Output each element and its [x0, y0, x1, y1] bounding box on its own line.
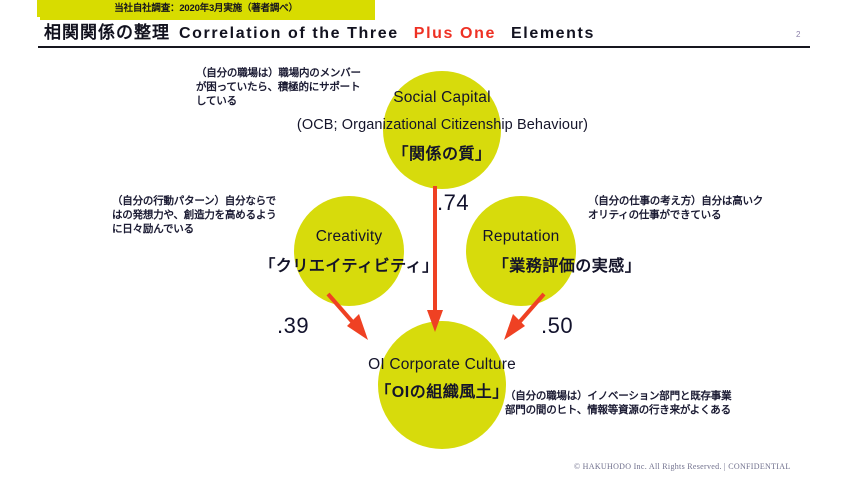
- page-title-jp: 相関関係の整理: [44, 23, 170, 42]
- annotation-creativity: （自分の行動パターン）自分ならではの発想力や、創造力を高めるように日々励んでいる: [112, 194, 284, 236]
- page-title-en-after: Elements: [505, 25, 595, 42]
- coefficient-creativity-to-oi: .39: [277, 313, 309, 339]
- node-label-social-capital-jp: 「関係の質」: [333, 140, 551, 164]
- page-title-en-before: Correlation of the Three: [179, 25, 405, 42]
- node-circle-reputation: [466, 196, 576, 306]
- node-label-oi-corporate-culture-en: OI Corporate Culture: [322, 356, 562, 374]
- coefficient-reputation-to-oi: .50: [541, 313, 573, 339]
- survey-note: 当社自社調査：2020年3月実施（著者調べ）: [37, 1, 375, 17]
- annotation-social-capital: （自分の職場は）職場内のメンバーが困っていたら、積極的にサポートしている: [196, 66, 368, 108]
- page-title: 相関関係の整理Correlation of the Three Plus One…: [44, 22, 595, 44]
- arrow-creativity-to-oi-icon: [322, 294, 382, 346]
- node-label-social-capital-ocb: (OCB; Organizational Citizenship Behavio…: [220, 117, 665, 133]
- page-number: 2: [796, 30, 800, 39]
- annotation-oi-corporate-culture: （自分の職場は）イノベーション部門と既存事業部門の間のヒト、情報等資源の行き来が…: [505, 389, 735, 417]
- coefficient-social-capital-to-oi: .74: [437, 190, 469, 216]
- title-yellow-underline: [40, 17, 375, 20]
- node-label-reputation-jp: 「業務評価の実感」: [417, 252, 717, 276]
- page-title-en-accent: Plus One: [414, 25, 496, 42]
- annotation-reputation: （自分の仕事の考え方）自分は高いクオリティの仕事ができている: [588, 194, 764, 222]
- node-label-creativity-en: Creativity: [264, 228, 434, 246]
- title-divider-rule: [38, 46, 810, 48]
- node-circle-creativity: [294, 196, 404, 306]
- node-label-reputation-en: Reputation: [436, 228, 606, 246]
- footer-copyright: © HAKUHODO Inc. All Rights Reserved. | C…: [574, 462, 791, 471]
